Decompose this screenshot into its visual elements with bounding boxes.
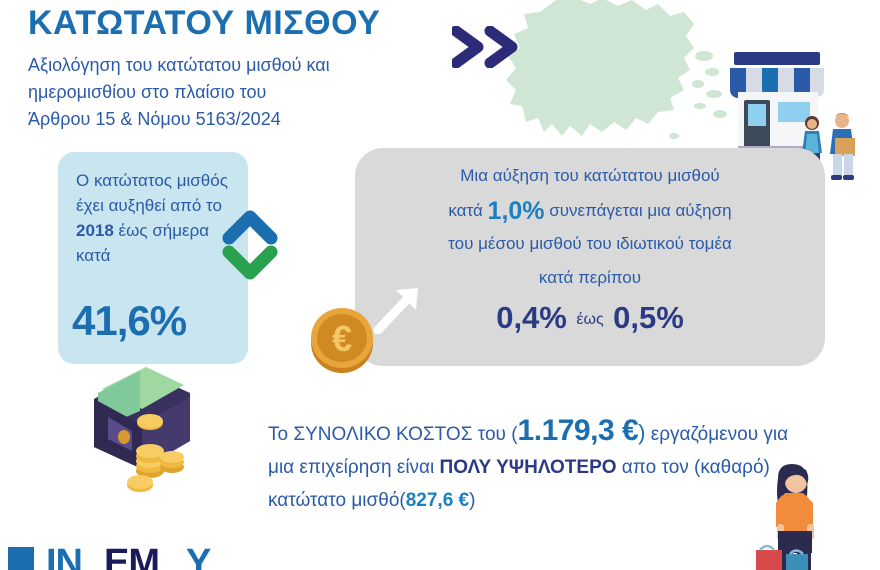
bottom-seg-2: ) xyxy=(638,420,645,445)
svg-text:Y: Y xyxy=(186,543,211,570)
infographic-page: ΚΑΤΩΤΑΤΟΥ ΜΙΣΘΟΥ Αξιολόγηση του κατώτατο… xyxy=(0,0,880,570)
grey-range-separator: έως xyxy=(576,311,603,328)
chevron-up-down-icons xyxy=(222,208,278,282)
woman-with-shopping-bags-icon xyxy=(752,462,838,570)
bottom-seg-1: Το ΣΥΝΟΛΙΚΟ ΚΟΣΤΟΣ του ( xyxy=(268,424,518,445)
page-subtitle: Αξιολόγηση του κατώτατου μισθού και ημερ… xyxy=(28,52,330,133)
grey-line2-a: κατά xyxy=(448,201,487,220)
grey-pct-1-0: 1,0% xyxy=(488,197,545,225)
page-title: ΚΑΤΩΤΑΤΟΥ ΜΙΣΘΟΥ xyxy=(28,4,380,43)
amount-total-cost: 1.179,3 € xyxy=(518,414,639,447)
grey-pct-low: 0,4% xyxy=(496,300,567,335)
euro-coin-icon: € xyxy=(306,303,378,375)
grey-line-2: κατά 1,0% συνεπάγεται μια αύξηση xyxy=(355,197,825,226)
svg-text:€: € xyxy=(332,318,352,359)
grey-line-3: του μέσου μισθού του ιδιωτικού τομέα xyxy=(355,234,825,254)
wallet-with-coins-icon xyxy=(80,367,225,502)
stat-card-increase-text: Ο κατώτατος μισθός έχει αυξηθεί από το 2… xyxy=(76,168,241,268)
grey-line2-b: συνεπάγεται μια αύξηση xyxy=(545,201,732,220)
grey-line-1: Μια αύξηση του κατώτατου μισθού xyxy=(355,166,825,186)
grey-pct-high: 0,5% xyxy=(613,300,684,335)
bottom-paragraph: Το ΣΥΝΟΛΙΚΟ ΚΟΣΤΟΣ του (1.179,3 €) εργαζ… xyxy=(268,414,808,517)
stat-year: 2018 xyxy=(76,221,114,240)
inemy-logo: IN EM Y xyxy=(8,543,238,570)
amount-minimum-wage: 827,6 € xyxy=(406,490,469,511)
svg-text:IN: IN xyxy=(46,543,82,570)
svg-text:EM: EM xyxy=(104,543,159,570)
double-chevron-right-icon xyxy=(452,26,524,68)
chevron-down-icon xyxy=(229,252,271,273)
chevron-up-icon xyxy=(229,217,271,238)
stat-value-41-6: 41,6% xyxy=(72,297,186,345)
bottom-seg-5: ) xyxy=(469,490,475,511)
stat-text-before: Ο κατώτατος μισθός έχει αυξηθεί από το xyxy=(76,171,228,215)
bottom-emphasis: ΠΟΛΥ ΥΨΗΛΟΤΕΡΟ xyxy=(440,457,617,478)
arrow-up-right-icon xyxy=(372,280,426,334)
